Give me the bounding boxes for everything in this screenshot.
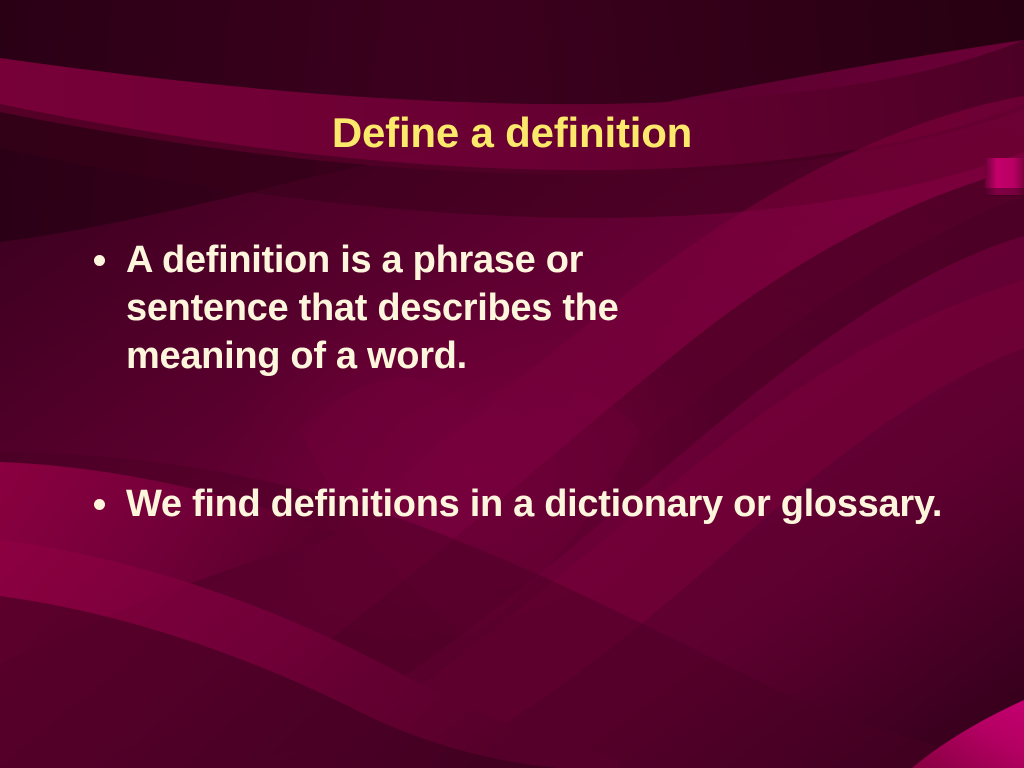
list-item: We find definitions in a dictionary or g…	[88, 480, 968, 528]
list-item-text: We find definitions in a dictionary or g…	[126, 480, 946, 528]
round-bullet-icon	[94, 499, 105, 510]
list-item: A definition is a phrase or sentence tha…	[88, 236, 968, 380]
round-bullet-icon	[94, 255, 105, 266]
list-item-text: A definition is a phrase or sentence tha…	[126, 236, 686, 380]
slide-content: Define a definition A definition is a ph…	[0, 0, 1024, 768]
slide-title: Define a definition	[0, 108, 1024, 158]
presentation-slide: Define a definition A definition is a ph…	[0, 0, 1024, 768]
slide-body-list: A definition is a phrase or sentence tha…	[88, 236, 968, 528]
